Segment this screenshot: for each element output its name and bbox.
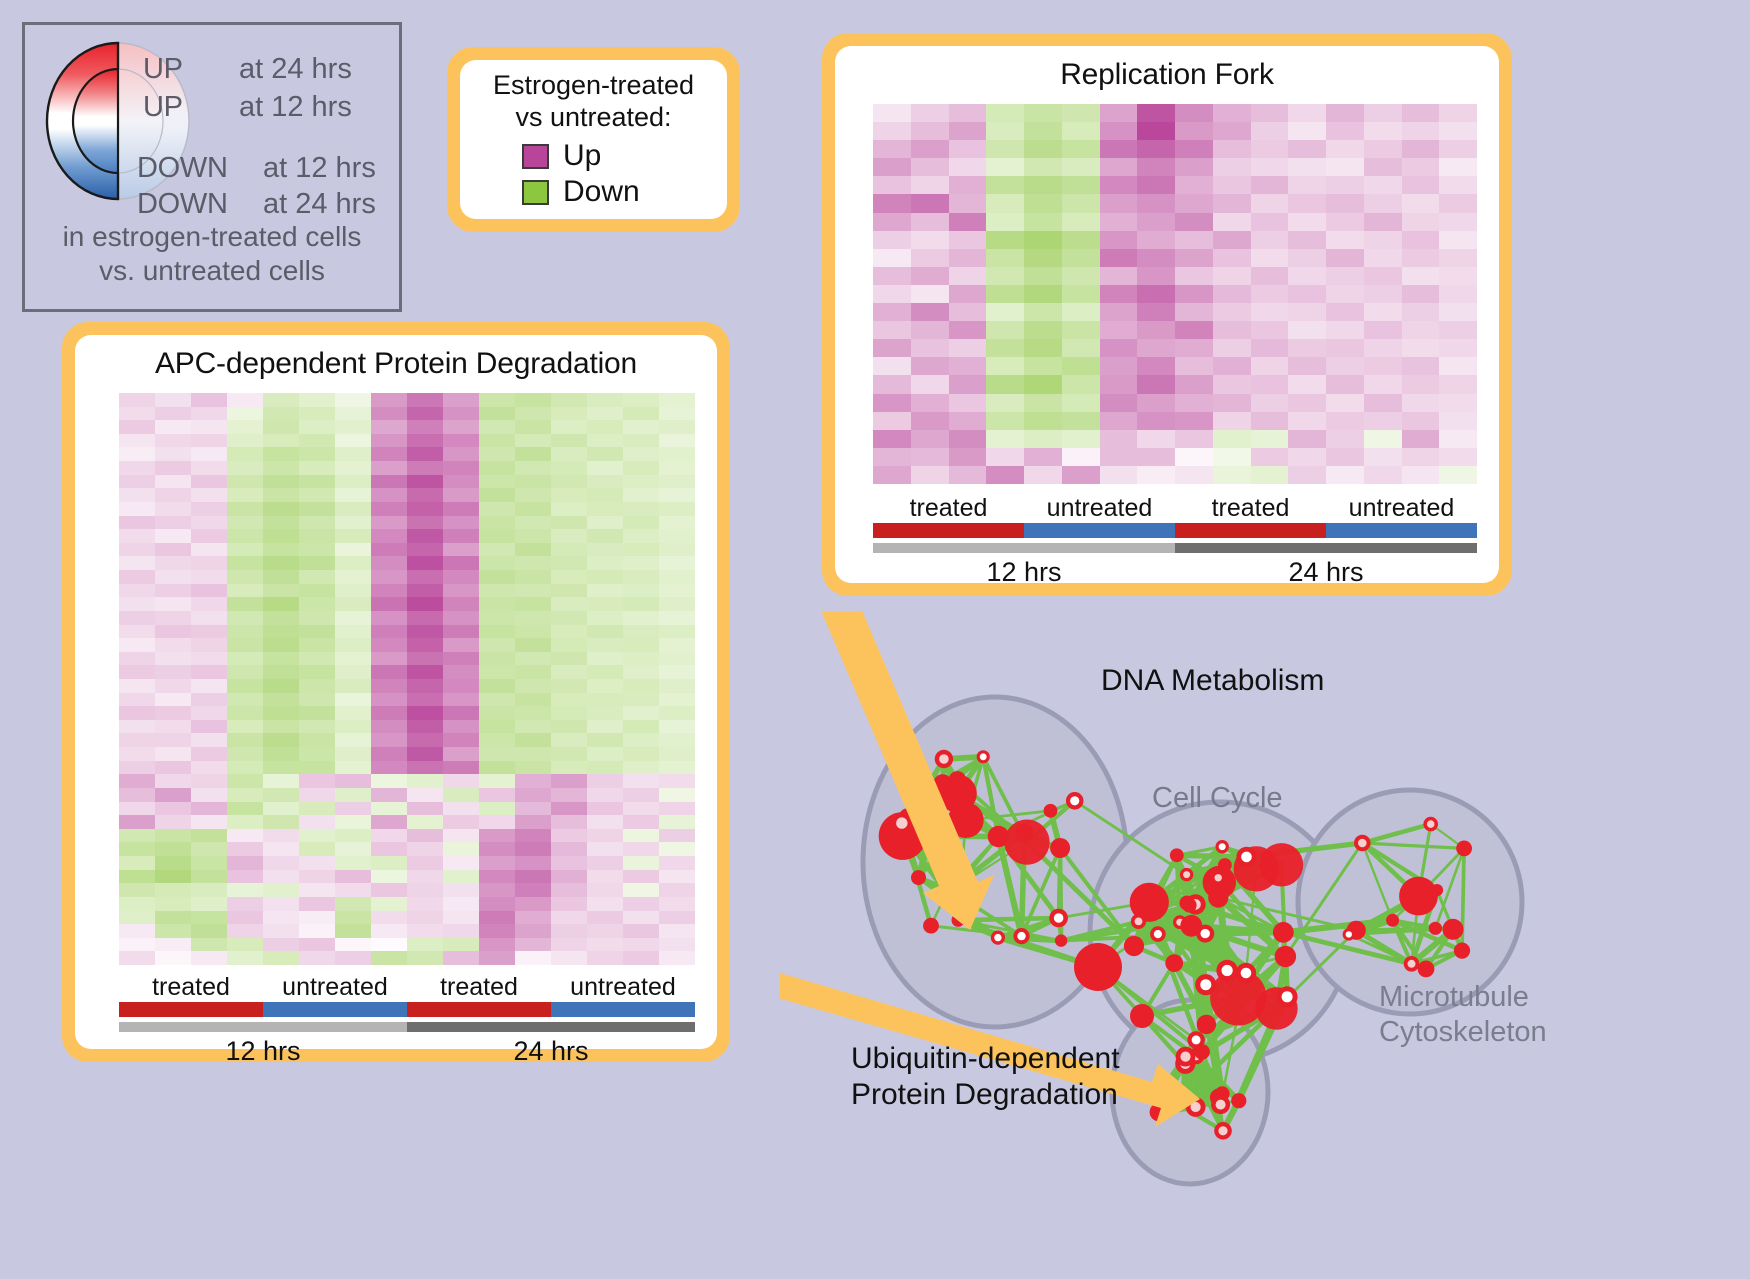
heatmap-cell — [335, 774, 371, 788]
heatmap-cell — [911, 285, 949, 303]
heatmap-cell — [407, 502, 443, 516]
heatmap-cell — [119, 447, 155, 461]
down-color-swatch — [522, 180, 549, 205]
heatmap-cell — [1175, 321, 1213, 339]
heatmap-cell — [551, 475, 587, 489]
heatmap-cell — [551, 488, 587, 502]
heatmap-cell — [551, 679, 587, 693]
heatmap-cell — [155, 543, 191, 557]
heatmap-cell — [623, 665, 659, 679]
heatmap-cell — [659, 584, 695, 598]
legend-up-24-time: at 24 hrs — [239, 53, 352, 86]
heatmap-cell — [1402, 357, 1440, 375]
heatmap-cell — [479, 475, 515, 489]
heatmap-cell — [659, 788, 695, 802]
heatmap-cell — [1137, 231, 1175, 249]
heatmap-cell — [407, 597, 443, 611]
heatmap-cell — [191, 393, 227, 407]
network-node — [1214, 1122, 1232, 1140]
heatmap-cell — [1288, 104, 1326, 122]
legend-up-12-time: at 12 hrs — [239, 91, 352, 124]
heatmap-cell — [1024, 104, 1062, 122]
heatmap-cell — [371, 488, 407, 502]
heatmap-cell — [1100, 104, 1138, 122]
heatmap-cell — [335, 597, 371, 611]
heatmap-cell — [299, 802, 335, 816]
heatmap-cell — [119, 802, 155, 816]
heatmap-cell — [551, 802, 587, 816]
heatmap-cell — [1439, 303, 1477, 321]
heatmap-cell — [371, 951, 407, 965]
heatmap-cell — [299, 638, 335, 652]
heatmap-cell — [1175, 158, 1213, 176]
legend-up-24-label: UP — [143, 53, 183, 86]
heatmap-cell — [479, 761, 515, 775]
heatmap-cell — [587, 829, 623, 843]
heatmap-cell — [191, 434, 227, 448]
heatmap-cell — [986, 231, 1024, 249]
heatmap-cell — [119, 502, 155, 516]
heatmap-cell — [479, 502, 515, 516]
heatmap-cell — [479, 706, 515, 720]
heatmap-cell — [1439, 412, 1477, 430]
heatmap-cell — [299, 529, 335, 543]
heatmap-cell — [119, 733, 155, 747]
heatmap-cell — [263, 407, 299, 421]
heatmap-cell — [551, 625, 587, 639]
heatmap-cell — [155, 856, 191, 870]
heatmap-cell — [1251, 412, 1289, 430]
heatmap-cell — [1326, 430, 1364, 448]
heatmap-cell — [479, 774, 515, 788]
heatmap-cell — [479, 788, 515, 802]
heatmap-cell — [191, 679, 227, 693]
heatmap-cell — [479, 911, 515, 925]
heatmap-cell — [407, 706, 443, 720]
heatmap-cell — [1213, 339, 1251, 357]
heatmap-cell — [1402, 303, 1440, 321]
heatmap-cell — [911, 357, 949, 375]
heatmap-cell — [551, 720, 587, 734]
heatmap-cell — [1100, 158, 1138, 176]
heatmap-cell — [191, 706, 227, 720]
heatmap-cell — [263, 761, 299, 775]
heatmap-cell — [551, 856, 587, 870]
heatmap-cell — [1439, 339, 1477, 357]
heatmap-cell — [587, 570, 623, 584]
heatmap-cell — [1439, 448, 1477, 466]
heatmap-cell — [371, 897, 407, 911]
network-node — [1236, 847, 1256, 867]
heatmap-cell — [443, 747, 479, 761]
heatmap-cell — [407, 488, 443, 502]
network-node — [1211, 1095, 1230, 1114]
heatmap-cell — [1251, 375, 1289, 393]
heatmap-cell — [515, 911, 551, 925]
heatmap-cell — [335, 951, 371, 965]
heatmap-cell — [1364, 122, 1402, 140]
heatmap-cell — [1402, 466, 1440, 484]
heatmap-cell — [659, 870, 695, 884]
heatmap-cell — [587, 611, 623, 625]
heatmap-cell — [1364, 466, 1402, 484]
heatmap-cell — [1062, 339, 1100, 357]
heatmap-cell — [227, 706, 263, 720]
heatmap-cell — [191, 856, 227, 870]
heatmap-cell — [659, 747, 695, 761]
network-node — [1260, 843, 1303, 886]
heatmap-cell — [227, 856, 263, 870]
heatmap-cell — [1024, 122, 1062, 140]
heatmap-cell — [479, 693, 515, 707]
time-group-label: 24 hrs — [407, 1032, 695, 1067]
heatmap-cell — [659, 407, 695, 421]
heatmap-cell — [227, 720, 263, 734]
heatmap-cell — [371, 706, 407, 720]
heatmap-cell — [443, 638, 479, 652]
heatmap-cell — [949, 249, 987, 267]
heatmap-cell — [1288, 122, 1326, 140]
microtubule-line2: Cytoskeleton — [1379, 1015, 1547, 1050]
heatmap-cell — [479, 652, 515, 666]
heatmap-cell — [191, 924, 227, 938]
legend-down-12-label: DOWN — [137, 152, 228, 185]
heatmap-cell — [587, 951, 623, 965]
heatmap-cell — [1137, 158, 1175, 176]
heatmap-cell — [263, 733, 299, 747]
heatmap-cell — [119, 924, 155, 938]
heatmap-cell — [1288, 466, 1326, 484]
network-node — [1454, 943, 1470, 959]
heatmap-cell — [1213, 249, 1251, 267]
heatmap-cell — [551, 665, 587, 679]
heatmap-cell — [1137, 176, 1175, 194]
heatmap-cell — [1326, 285, 1364, 303]
heatmap-cell — [873, 122, 911, 140]
heatmap-cell — [1213, 285, 1251, 303]
heatmap-cell — [191, 842, 227, 856]
heatmap-cell — [371, 556, 407, 570]
heatmap-cell — [1326, 448, 1364, 466]
heatmap-cell — [407, 625, 443, 639]
heatmap-cell — [1288, 285, 1326, 303]
heatmap-cell — [263, 951, 299, 965]
heatmap-cell — [407, 747, 443, 761]
heatmap-cell — [515, 475, 551, 489]
heatmap-cell — [443, 625, 479, 639]
heatmap-cell — [227, 924, 263, 938]
heatmap-cell — [371, 733, 407, 747]
heatmap-cell — [873, 285, 911, 303]
heatmap-cell — [1175, 176, 1213, 194]
heatmap-cell — [1402, 339, 1440, 357]
heatmap-cell — [1439, 466, 1477, 484]
heatmap-cell — [911, 140, 949, 158]
heatmap-cell — [587, 597, 623, 611]
heatmap-cell — [587, 693, 623, 707]
heatmap-cell — [1137, 375, 1175, 393]
heatmap-cell — [1062, 303, 1100, 321]
heatmap-cell — [623, 774, 659, 788]
heatmap-cell — [263, 529, 299, 543]
heatmap-cell — [587, 393, 623, 407]
heatmap-cell — [1213, 194, 1251, 212]
heatmap-cell — [551, 543, 587, 557]
heatmap-cell — [119, 393, 155, 407]
heatmap-cell — [227, 870, 263, 884]
heatmap-cell — [335, 420, 371, 434]
heatmap-cell — [299, 516, 335, 530]
heatmap-cell — [1326, 158, 1364, 176]
heatmap-cell — [407, 911, 443, 925]
heatmap-cell — [371, 597, 407, 611]
heatmap-cell — [659, 802, 695, 816]
heatmap-cell — [515, 570, 551, 584]
heatmap-cell — [1439, 122, 1477, 140]
heatmap-cell — [443, 706, 479, 720]
heatmap-cell — [227, 420, 263, 434]
heatmap-cell — [119, 856, 155, 870]
legend-footer-line1: in estrogen-treated cells — [25, 220, 399, 254]
heatmap-cell — [1402, 176, 1440, 194]
heatmap-cell — [551, 897, 587, 911]
heatmap-cell — [873, 231, 911, 249]
heatmap-cell — [371, 529, 407, 543]
heatmap-cell — [119, 420, 155, 434]
heatmap-cell — [623, 420, 659, 434]
heatmap-cell — [263, 543, 299, 557]
heatmap-cell — [227, 638, 263, 652]
heatmap-cell — [443, 856, 479, 870]
heatmap-cell — [299, 393, 335, 407]
heatmap-cell — [1213, 412, 1251, 430]
heatmap-cell — [1062, 412, 1100, 430]
replication-fork-title: Replication Fork — [835, 46, 1499, 92]
legend-footer-line2: vs. untreated cells — [25, 254, 399, 288]
heatmap-cell — [659, 815, 695, 829]
heatmap-cell — [623, 747, 659, 761]
up-label: Up — [563, 139, 601, 173]
heatmap-cell — [659, 570, 695, 584]
heatmap-cell — [1062, 375, 1100, 393]
heatmap-cell — [551, 434, 587, 448]
heatmap-cell — [659, 638, 695, 652]
heatmap-cell — [551, 842, 587, 856]
heatmap-cell — [515, 420, 551, 434]
heatmap-cell — [1402, 321, 1440, 339]
heatmap-cell — [407, 829, 443, 843]
heatmap-cell — [1100, 285, 1138, 303]
heatmap-cell — [659, 597, 695, 611]
heatmap-cell — [371, 475, 407, 489]
heatmap-cell — [371, 815, 407, 829]
heatmap-cell — [119, 529, 155, 543]
heatmap-cell — [155, 842, 191, 856]
heatmap-cell — [1402, 285, 1440, 303]
heatmap-cell — [371, 856, 407, 870]
heatmap-cell — [1175, 213, 1213, 231]
heatmap-cell — [986, 339, 1024, 357]
heatmap-cell — [659, 543, 695, 557]
heatmap-cell — [1213, 430, 1251, 448]
heatmap-cell — [986, 140, 1024, 158]
heatmap-cell — [479, 407, 515, 421]
heatmap-cell — [407, 529, 443, 543]
heatmap-cell — [1439, 158, 1477, 176]
heatmap-cell — [1100, 140, 1138, 158]
heatmap-cell — [299, 652, 335, 666]
heatmap-cell — [479, 665, 515, 679]
heatmap-cell — [263, 842, 299, 856]
heatmap-cell — [371, 761, 407, 775]
network-node — [1170, 848, 1184, 862]
heatmap-cell — [299, 829, 335, 843]
heatmap-cell — [551, 529, 587, 543]
heatmap-cell — [119, 897, 155, 911]
heatmap-cell — [443, 570, 479, 584]
heatmap-cell — [911, 249, 949, 267]
heatmap-cell — [407, 516, 443, 530]
heatmap-cell — [227, 911, 263, 925]
heatmap-cell — [949, 394, 987, 412]
heatmap-cell — [659, 706, 695, 720]
heatmap-cell — [1251, 267, 1289, 285]
heatmap-cell — [1364, 231, 1402, 249]
heatmap-cell — [986, 412, 1024, 430]
heatmap-cell — [335, 625, 371, 639]
heatmap-cell — [623, 502, 659, 516]
heatmap-cell — [119, 720, 155, 734]
heatmap-cell — [1100, 231, 1138, 249]
heatmap-cell — [1251, 430, 1289, 448]
replication-fork-heatmap — [873, 104, 1477, 484]
heatmap-cell — [949, 466, 987, 484]
heatmap-cell — [1062, 122, 1100, 140]
heatmap-cell — [1251, 466, 1289, 484]
heatmap-cell — [587, 543, 623, 557]
heatmap-cell — [335, 693, 371, 707]
network-node — [1273, 922, 1294, 943]
heatmap-cell — [515, 693, 551, 707]
heatmap-cell — [263, 802, 299, 816]
sample-group-label: treated — [407, 973, 551, 1002]
heatmap-cell — [443, 815, 479, 829]
heatmap-cell — [1251, 394, 1289, 412]
heatmap-cell — [1213, 140, 1251, 158]
heatmap-cell — [263, 897, 299, 911]
heatmap-cell — [191, 543, 227, 557]
heatmap-cell — [479, 570, 515, 584]
heatmap-cell — [335, 570, 371, 584]
heatmap-cell — [407, 420, 443, 434]
heatmap-cell — [191, 570, 227, 584]
heatmap-cell — [1175, 140, 1213, 158]
heatmap-cell — [587, 802, 623, 816]
sample-group-bar — [1024, 523, 1175, 538]
heatmap-cell — [191, 420, 227, 434]
heatmap-cell — [1024, 430, 1062, 448]
heatmap-cell — [263, 856, 299, 870]
heatmap-cell — [407, 665, 443, 679]
heatmap-cell — [263, 638, 299, 652]
heatmap-cell — [1439, 140, 1477, 158]
heatmap-cell — [227, 883, 263, 897]
heatmap-cell — [1213, 122, 1251, 140]
heatmap-cell — [1024, 321, 1062, 339]
heatmap-cell — [659, 911, 695, 925]
heatmap-cell — [986, 430, 1024, 448]
heatmap-cell — [1100, 267, 1138, 285]
heatmap-cell — [515, 584, 551, 598]
heatmap-cell — [911, 194, 949, 212]
heatmap-cell — [623, 407, 659, 421]
heatmap-cell — [443, 802, 479, 816]
heatmap-cell — [659, 693, 695, 707]
heatmap-cell — [515, 788, 551, 802]
heatmap-cell — [227, 516, 263, 530]
heatmap-cell — [191, 761, 227, 775]
heatmap-cell — [1100, 394, 1138, 412]
heatmap-cell — [407, 679, 443, 693]
heatmap-cell — [299, 924, 335, 938]
heatmap-cell — [949, 339, 987, 357]
heatmap-cell — [1326, 249, 1364, 267]
heatmap-cell — [1062, 158, 1100, 176]
heatmap-cell — [371, 447, 407, 461]
network-node — [1150, 926, 1166, 942]
heatmap-cell — [1288, 267, 1326, 285]
heatmap-cell — [191, 951, 227, 965]
heatmap-cell — [1100, 321, 1138, 339]
heatmap-cell — [335, 638, 371, 652]
heatmap-cell — [443, 679, 479, 693]
heatmap-cell — [949, 321, 987, 339]
heatmap-cell — [1251, 122, 1289, 140]
heatmap-cell — [155, 938, 191, 952]
heatmap-cell — [335, 488, 371, 502]
heatmap-cell — [155, 529, 191, 543]
updown-legend-panel: Estrogen-treated vs untreated: Up Down — [447, 47, 740, 232]
heatmap-cell — [155, 475, 191, 489]
heatmap-cell — [623, 638, 659, 652]
heatmap-cell — [407, 447, 443, 461]
heatmap-cell — [515, 815, 551, 829]
heatmap-cell — [479, 924, 515, 938]
heatmap-cell — [623, 870, 659, 884]
heatmap-cell — [479, 938, 515, 952]
heatmap-cell — [119, 747, 155, 761]
heatmap-cell — [515, 407, 551, 421]
heatmap-cell — [263, 625, 299, 639]
heatmap-cell — [443, 556, 479, 570]
heatmap-cell — [551, 447, 587, 461]
heatmap-cell — [551, 815, 587, 829]
heatmap-cell — [515, 951, 551, 965]
heatmap-cell — [1251, 249, 1289, 267]
heatmap-cell — [1213, 466, 1251, 484]
heatmap-cell — [155, 897, 191, 911]
heatmap-cell — [1402, 448, 1440, 466]
heatmap-cell — [911, 303, 949, 321]
heatmap-cell — [479, 733, 515, 747]
network-node — [1015, 824, 1033, 842]
heatmap-cell — [551, 584, 587, 598]
heatmap-cell — [1137, 394, 1175, 412]
microtubule-line1: Microtubule — [1379, 980, 1547, 1015]
heatmap-cell — [1100, 213, 1138, 231]
heatmap-cell — [873, 466, 911, 484]
heatmap-cell — [659, 924, 695, 938]
